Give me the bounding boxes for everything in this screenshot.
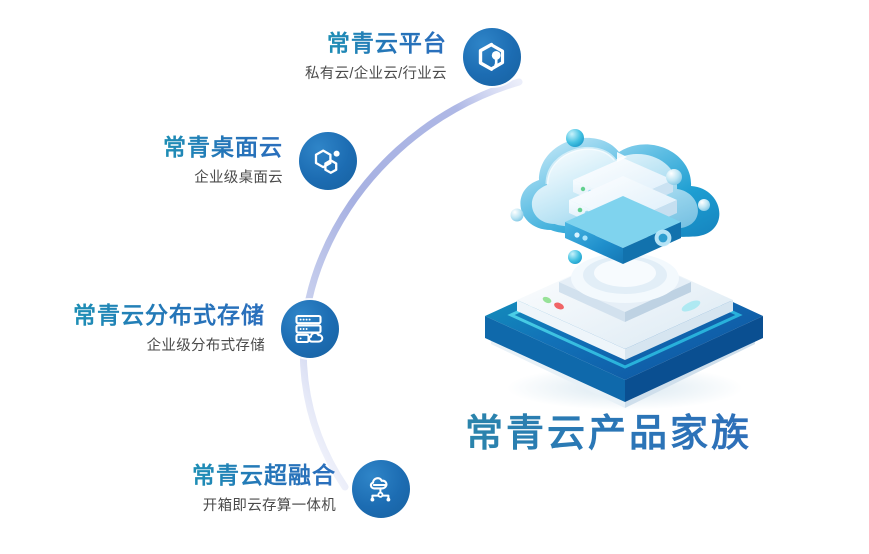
- page-title: 常青云产品家族: [465, 402, 752, 457]
- product-title: 常青桌面云: [163, 134, 283, 161]
- product-title: 常青云超融合: [192, 462, 336, 489]
- product-node-text-group: 常青桌面云 企业级桌面云: [163, 134, 283, 188]
- product-subtitle: 企业级分布式存储: [147, 338, 265, 355]
- infographic-canvas: 常青云平台 私有云/企业云/行业云 常青桌面云 企业级桌面云: [0, 0, 869, 554]
- cloud-server-platform-illustration: [455, 120, 785, 410]
- hexagon-cloud-logo-icon[interactable]: [463, 28, 521, 86]
- product-node-platform[interactable]: 常青云平台 私有云/企业云/行业云: [305, 28, 521, 86]
- product-node-text-group: 常青云平台 私有云/企业云/行业云: [305, 30, 447, 84]
- hexagon-nodes-icon[interactable]: [299, 132, 357, 190]
- cloud-network-nodes-icon[interactable]: [352, 460, 410, 518]
- product-subtitle: 开箱即云存算一体机: [203, 498, 336, 515]
- product-node-storage[interactable]: 常青云分布式存储 企业级分布式存储: [73, 300, 339, 358]
- product-subtitle: 企业级桌面云: [194, 170, 283, 187]
- product-subtitle: 私有云/企业云/行业云: [305, 66, 447, 83]
- product-title: 常青云平台: [327, 30, 447, 57]
- product-node-desktop[interactable]: 常青桌面云 企业级桌面云: [163, 132, 357, 190]
- product-node-text-group: 常青云超融合 开箱即云存算一体机: [192, 462, 336, 516]
- product-node-hyperconverged[interactable]: 常青云超融合 开箱即云存算一体机: [192, 460, 410, 518]
- product-title: 常青云分布式存储: [73, 302, 265, 329]
- server-cloud-storage-icon[interactable]: [281, 300, 339, 358]
- product-node-text-group: 常青云分布式存储 企业级分布式存储: [73, 302, 265, 356]
